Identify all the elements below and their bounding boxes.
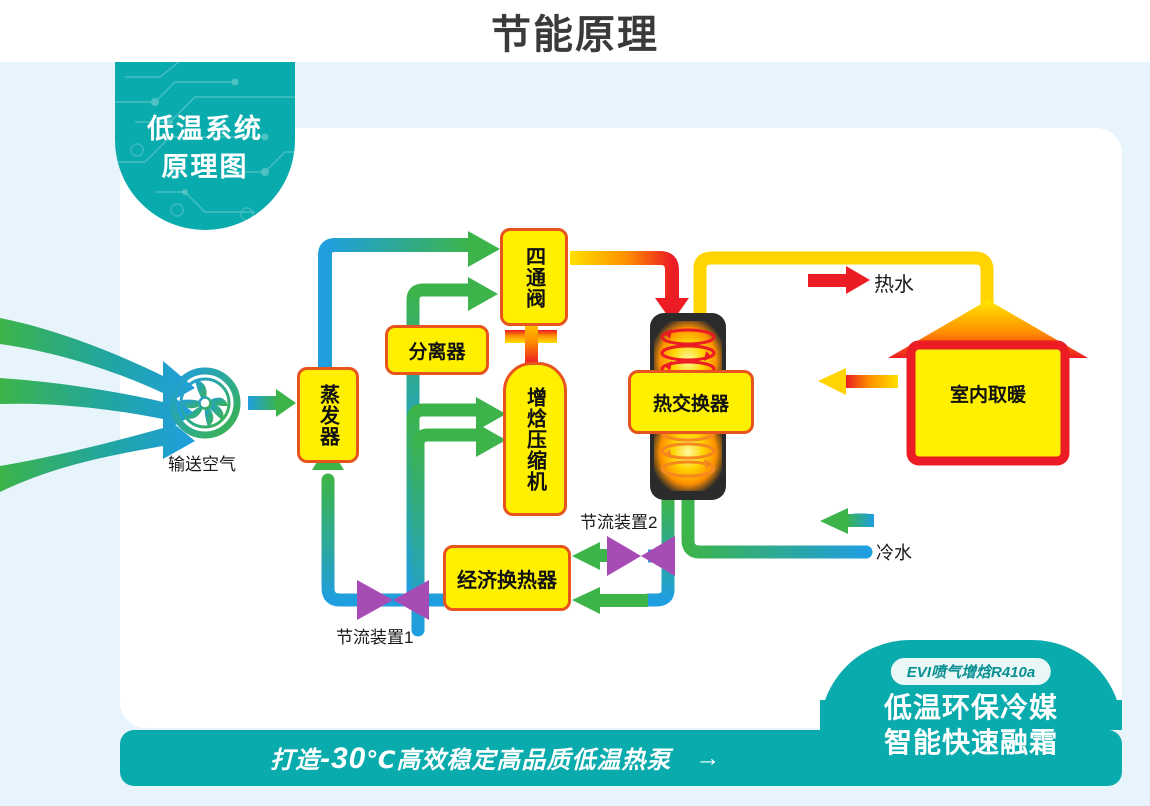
- heat-exchanger-box[interactable]: 热交换器: [628, 370, 754, 434]
- arrow-right-icon[interactable]: →: [695, 744, 720, 773]
- shield-badge: 低温系统 原理图: [115, 62, 295, 230]
- evaporator-box[interactable]: 蒸发器: [297, 367, 359, 463]
- separator-box[interactable]: 分离器: [385, 325, 489, 375]
- promo-dome-text: 低温环保冷媒 智能快速融霜: [820, 690, 1122, 760]
- shield-badge-text: 低温系统 原理图: [115, 62, 295, 186]
- throttle-2-label: 节流装置2: [580, 508, 657, 533]
- evaporator-label: 蒸发器: [314, 384, 343, 447]
- compressor-label: 增焓压缩机: [521, 387, 550, 492]
- compressor-box[interactable]: 增焓压缩机: [503, 362, 567, 516]
- hot-water-label: 热水: [874, 268, 914, 297]
- slogan-post: ℃高效稳定高品质低温热泵: [366, 747, 671, 774]
- economizer-box[interactable]: 经济换热器: [443, 545, 571, 611]
- promo-line1: 低温环保冷媒: [820, 690, 1122, 725]
- bottom-slogan: 打造-30℃高效稳定高品质低温热泵: [270, 740, 671, 776]
- shield-badge-line1: 低温系统: [115, 110, 295, 148]
- promo-line2: 智能快速融霜: [820, 725, 1122, 760]
- separator-label: 分离器: [408, 337, 465, 364]
- refrigerant-pill: EVI喷气增焓R410a: [891, 658, 1051, 685]
- four-way-valve-label: 四通阀: [520, 246, 549, 309]
- cold-water-label: 冷水: [876, 539, 912, 565]
- slogan-pre: 打造: [270, 747, 320, 774]
- four-way-valve-box[interactable]: 四通阀: [500, 228, 568, 326]
- economizer-label: 经济换热器: [457, 564, 557, 593]
- slogan-temp: -30: [320, 742, 366, 775]
- air-supply-label: 输送空气: [168, 450, 236, 475]
- throttle-1-label: 节流装置1: [336, 623, 413, 648]
- shield-badge-line2: 原理图: [115, 148, 295, 186]
- indoor-heating-label: 室内取暖: [911, 380, 1065, 407]
- heat-exchanger-label: 热交换器: [653, 389, 729, 416]
- page-title: 节能原理: [0, 0, 1150, 62]
